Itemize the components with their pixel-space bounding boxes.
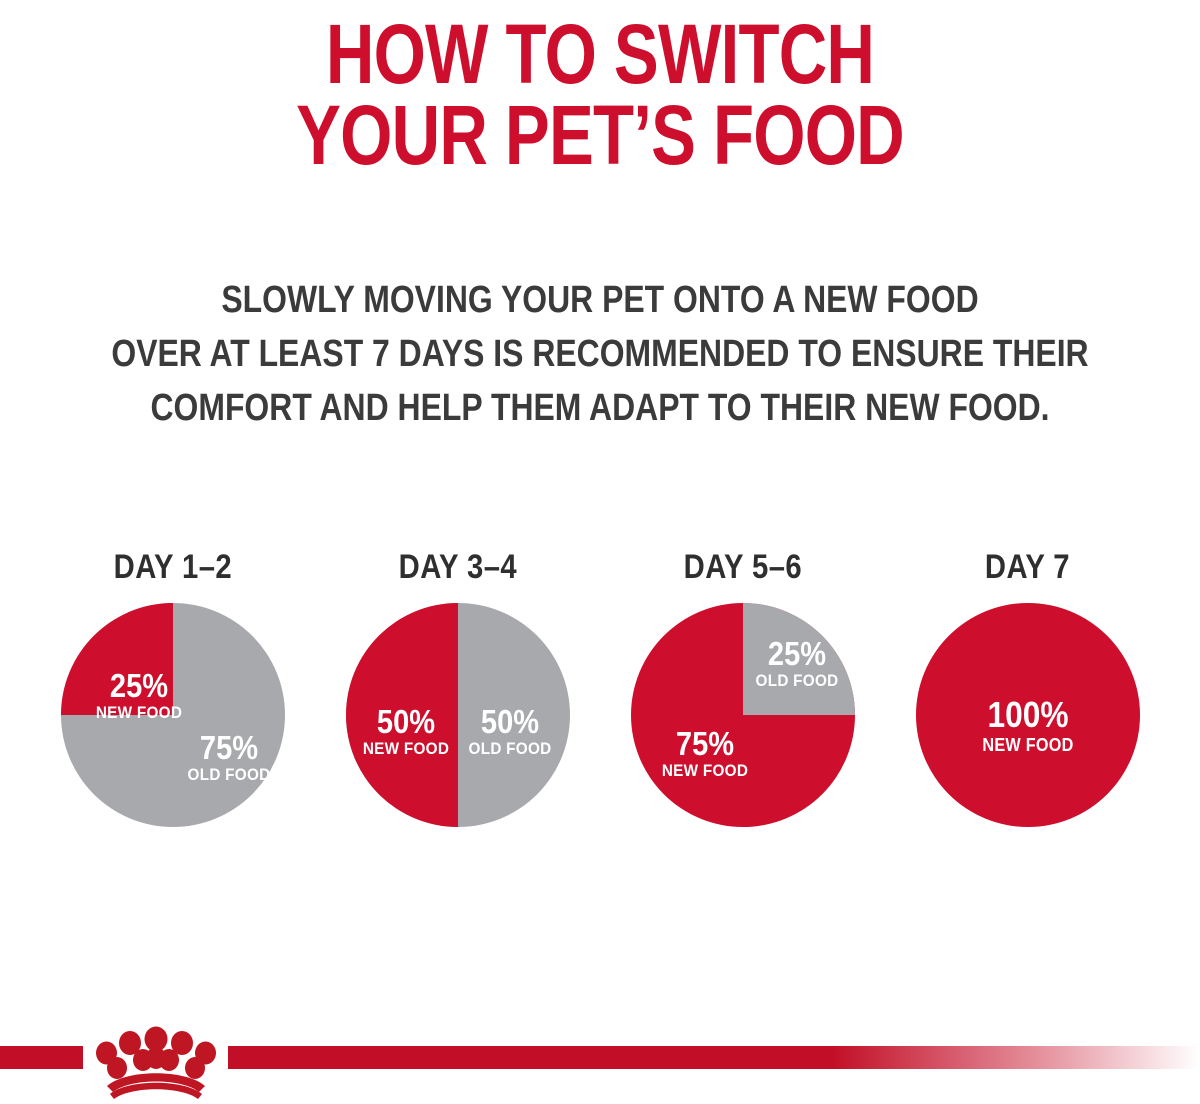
page-title: HOW TO SWITCH YOUR PET’S FOOD bbox=[0, 14, 1200, 175]
pie-graphic-2: 50% NEW FOOD 50% OLD FOOD bbox=[346, 603, 570, 827]
footer bbox=[0, 1020, 1200, 1104]
day-label-4: DAY 7 bbox=[985, 548, 1070, 587]
footer-bar-left bbox=[0, 1046, 83, 1069]
day-label-3: DAY 5–6 bbox=[683, 548, 801, 587]
day-label-2: DAY 3–4 bbox=[398, 548, 516, 587]
subtitle-line-1: SLOWLY MOVING YOUR PET ONTO A NEW FOOD bbox=[96, 274, 1104, 328]
subtitle-line-3: COMFORT AND HELP THEM ADAPT TO THEIR NEW… bbox=[96, 382, 1104, 436]
pie-svg-2 bbox=[346, 603, 570, 827]
pie-chart-day-7: DAY 7 100% NEW FOOD bbox=[885, 548, 1170, 827]
pie-chart-day-5-6: DAY 5–6 25% OLD FOOD 75% NEW FOOD bbox=[600, 548, 885, 827]
pie-graphic-4: 100% NEW FOOD bbox=[916, 603, 1140, 827]
pie-svg-4 bbox=[916, 603, 1140, 827]
crown-icon bbox=[86, 1022, 226, 1102]
pie-graphic-3: 25% OLD FOOD 75% NEW FOOD bbox=[631, 603, 855, 827]
slice-new-food-4 bbox=[916, 603, 1140, 827]
subtitle: SLOWLY MOVING YOUR PET ONTO A NEW FOOD O… bbox=[0, 274, 1200, 436]
slice-new-food-2 bbox=[346, 603, 458, 827]
royal-canin-crown-svg bbox=[86, 1022, 226, 1102]
subtitle-line-2: OVER AT LEAST 7 DAYS IS RECOMMENDED TO E… bbox=[96, 328, 1104, 382]
footer-bar-right bbox=[228, 1046, 1200, 1069]
title-line-2: YOUR PET’S FOOD bbox=[120, 95, 1080, 176]
pie-chart-day-1-2: DAY 1–2 25% NEW FOOD 75% OLD FOOD bbox=[30, 548, 315, 827]
title-line-1: HOW TO SWITCH bbox=[120, 14, 1080, 95]
pie-svg-1 bbox=[61, 603, 285, 827]
slice-new-food-1 bbox=[61, 603, 173, 715]
pie-chart-day-3-4: DAY 3–4 50% NEW FOOD 50% OLD FOOD bbox=[315, 548, 600, 827]
slice-old-food-3 bbox=[743, 603, 855, 715]
pie-svg-3 bbox=[631, 603, 855, 827]
pie-chart-row: DAY 1–2 25% NEW FOOD 75% OLD FOOD DAY 3–… bbox=[0, 548, 1200, 827]
day-label-1: DAY 1–2 bbox=[113, 548, 231, 587]
pie-graphic-1: 25% NEW FOOD 75% OLD FOOD bbox=[61, 603, 285, 827]
